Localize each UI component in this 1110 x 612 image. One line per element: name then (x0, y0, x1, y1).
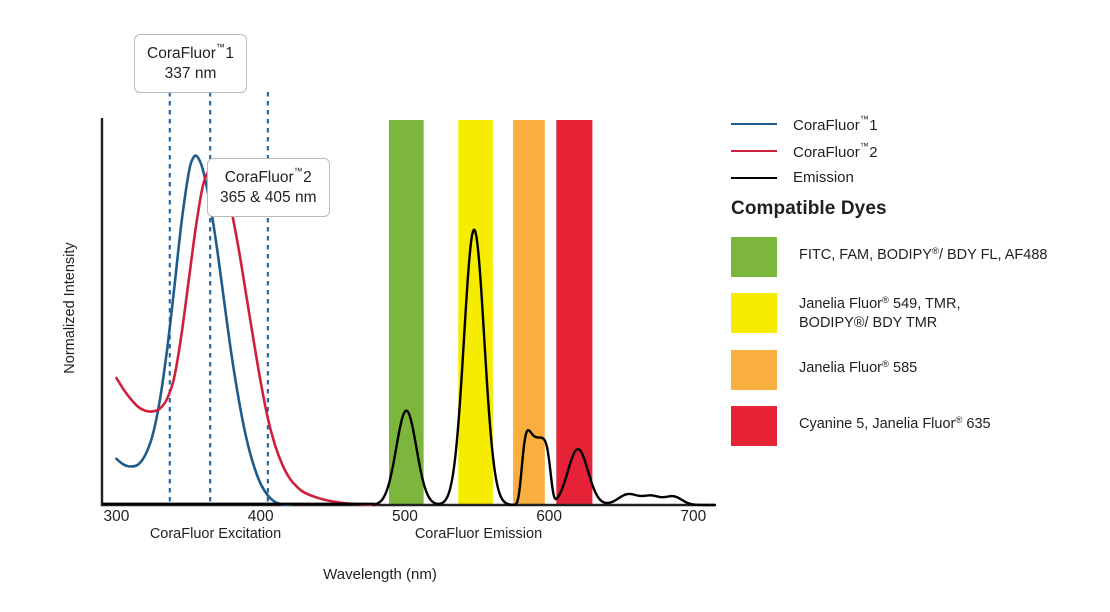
compatible-dyes-list: FITC, FAM, BODIPY®/ BDY FL, AF488Janelia… (731, 237, 1106, 446)
dye-item-label: Cyanine 5, Janelia Fluor® 635 (799, 406, 991, 434)
dye-color-swatch (731, 406, 777, 446)
dye-item-4[interactable]: Cyanine 5, Janelia Fluor® 635 (731, 406, 1106, 446)
dye-label-line1: Janelia Fluor® 549, TMR, (799, 295, 960, 314)
spectra-figure: CoraFluor™1 337 nm CoraFluor™2 365 & 405… (0, 0, 1110, 612)
legend-item-3[interactable]: Emission (731, 164, 1101, 191)
dye-band-orange (513, 120, 545, 505)
callout-2-line1: CoraFluor™2 (220, 166, 317, 188)
dye-item-2[interactable]: Janelia Fluor® 549, TMR,BODIPY®/ BDY TMR (731, 293, 1106, 334)
callout-corafluor-1: CoraFluor™1 337 nm (134, 34, 247, 93)
dye-item-label: Janelia Fluor® 549, TMR,BODIPY®/ BDY TMR (799, 293, 960, 334)
dye-label-line1: Cyanine 5, Janelia Fluor® 635 (799, 415, 991, 434)
dye-band-green (389, 120, 424, 505)
callout-1-line2: 337 nm (147, 64, 234, 84)
registered-icon: ® (932, 246, 939, 257)
trademark-icon: ™ (294, 166, 304, 176)
callout-corafluor-2: CoraFluor™2 365 & 405 nm (207, 158, 330, 217)
dye-item-1[interactable]: FITC, FAM, BODIPY®/ BDY FL, AF488 (731, 237, 1106, 277)
dye-color-swatch (731, 293, 777, 333)
series-legend: CoraFluor™1CoraFluor™2Emission (731, 110, 1101, 191)
trademark-icon: ™ (860, 114, 870, 124)
legend-item-label: CoraFluor™1 (793, 114, 878, 134)
dye-item-label: FITC, FAM, BODIPY®/ BDY FL, AF488 (799, 237, 1047, 265)
legend-line-swatch (731, 123, 777, 125)
x-tick-400: 400 (231, 508, 291, 526)
x-tick-500: 500 (375, 508, 435, 526)
x-axis-title: Wavelength (nm) (0, 566, 760, 583)
dye-label-line1: Janelia Fluor® 585 (799, 359, 917, 378)
dye-label-line2: BODIPY®/ BDY TMR (799, 314, 960, 333)
dye-band-yellow (458, 120, 493, 505)
legend-item-1[interactable]: CoraFluor™1 (731, 110, 1101, 137)
dye-item-label: Janelia Fluor® 585 (799, 350, 917, 378)
callout-2-line2: 365 & 405 nm (220, 188, 317, 208)
x-tick-700: 700 (663, 508, 723, 526)
compatible-dyes-panel: Compatible Dyes FITC, FAM, BODIPY®/ BDY … (731, 198, 1106, 462)
axis-group-emission: CoraFluor Emission (406, 526, 551, 542)
x-tick-300: 300 (86, 508, 146, 526)
dye-item-3[interactable]: Janelia Fluor® 585 (731, 350, 1106, 390)
y-axis-title: Normalized Intensity (62, 208, 78, 408)
axis-group-excitation: CoraFluor Excitation (143, 526, 288, 542)
legend-line-swatch (731, 177, 777, 179)
trademark-icon: ™ (216, 42, 226, 52)
legend-item-2[interactable]: CoraFluor™2 (731, 137, 1101, 164)
registered-icon: ® (882, 295, 889, 306)
compatible-dyes-title: Compatible Dyes (731, 198, 1106, 220)
trademark-icon: ™ (860, 141, 870, 151)
legend-line-swatch (731, 150, 777, 152)
x-tick-600: 600 (519, 508, 579, 526)
registered-icon: ® (882, 359, 889, 370)
legend-item-label: CoraFluor™2 (793, 141, 878, 161)
dye-label-line1: FITC, FAM, BODIPY®/ BDY FL, AF488 (799, 246, 1047, 265)
dye-color-swatch (731, 350, 777, 390)
dye-band-red (556, 120, 592, 505)
callout-1-line1: CoraFluor™1 (147, 42, 234, 64)
legend-item-label: Emission (793, 169, 854, 186)
dye-color-swatch (731, 237, 777, 277)
